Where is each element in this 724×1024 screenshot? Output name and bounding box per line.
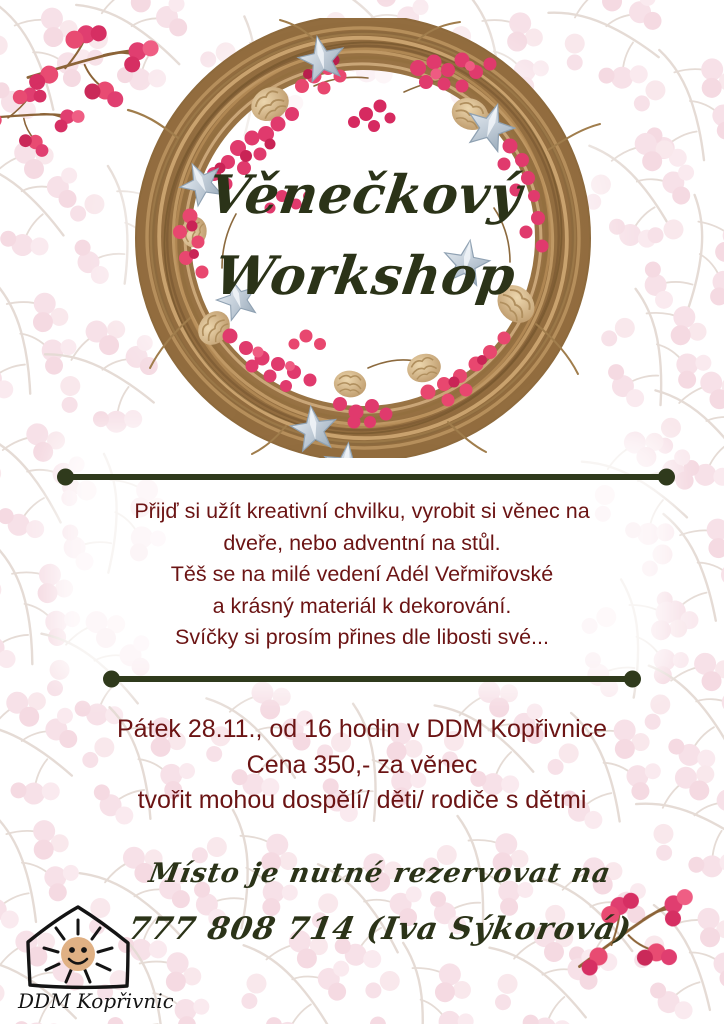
divider-bottom bbox=[108, 676, 636, 682]
ddm-logo: DDM Kopřivnice bbox=[8, 898, 173, 1016]
poster-root: Věnečkový Workshop Přijď si užít kreativ… bbox=[0, 0, 724, 1024]
divider-top bbox=[62, 474, 670, 480]
intro-line: Těš se na milé vedení Adél Veřmiřovské bbox=[62, 559, 662, 591]
reservation-phone[interactable]: 777 808 714 (Iva Sýkorová) bbox=[117, 911, 643, 947]
intro-line: Přijď si užít kreativní chvilku, vyrobit… bbox=[62, 496, 662, 528]
reservation-block: Místo je nutné rezervovat na 777 808 714… bbox=[120, 858, 640, 947]
details-line-price: Cena 350,- za věnec bbox=[42, 748, 682, 784]
details-line-datetime: Pátek 28.11., od 16 hodin v DDM Kopřivni… bbox=[42, 712, 682, 748]
intro-line: Svíčky si prosím přines dle libosti své.… bbox=[62, 622, 662, 654]
intro-paragraph: Přijď si užít kreativní chvilku, vyrobit… bbox=[62, 496, 662, 654]
reservation-note: Místo je nutné rezervovat na bbox=[117, 858, 642, 889]
logo-text: DDM Kopřivnice bbox=[17, 989, 173, 1013]
event-details: Pátek 28.11., od 16 hodin v DDM Kopřivni… bbox=[42, 712, 682, 819]
details-line-audience: tvořit mohou dospělí/ děti/ rodiče s dět… bbox=[42, 783, 682, 819]
intro-line: dveře, nebo adventní na stůl. bbox=[62, 528, 662, 560]
intro-line: a krásný materiál k dekorování. bbox=[62, 591, 662, 623]
sun-face bbox=[61, 937, 95, 971]
christmas-wreath-illustration bbox=[118, 18, 608, 458]
